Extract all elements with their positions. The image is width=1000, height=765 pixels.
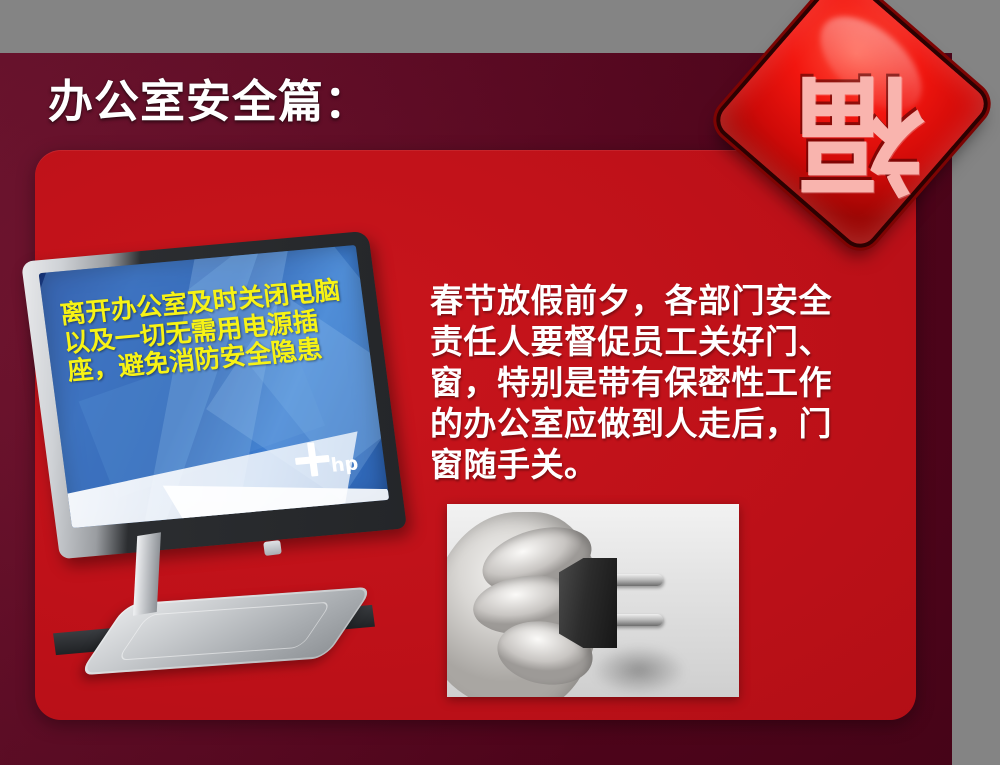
- hp-logo: hp: [293, 439, 359, 478]
- power-button-icon: [263, 540, 282, 556]
- computer-monitor-illustration: 离开办公室及时关闭电脑以及一切无需用电源插座，避免消防安全隐患 hp: [40, 245, 410, 645]
- body-paragraph: 春节放假前夕，各部门安全责任人要督促员工关好门、窗，特别是带有保密性工作的办公室…: [430, 281, 850, 486]
- screenshot-root: 办公室安全篇： 离开办公室及时关闭电脑以及一切无需用电源插座，避免消防安全隐患: [0, 0, 1000, 765]
- fu-character-glyph: 福: [724, 0, 996, 268]
- photo-shadow: [587, 644, 717, 697]
- fu-ornament: 福: [718, 0, 990, 262]
- hp-wordmark: hp: [330, 455, 359, 474]
- monitor-bezel: 离开办公室及时关闭电脑以及一切无需用电源插座，避免消防安全隐患 hp: [21, 231, 407, 559]
- monitor-stand-neck: [133, 532, 161, 615]
- plug-body: [559, 558, 617, 648]
- plus-icon: [293, 441, 331, 478]
- wallpaper-white-streak: [163, 486, 389, 528]
- monitor-screen: 离开办公室及时关闭电脑以及一切无需用电源插座，避免消防安全隐患 hp: [39, 245, 390, 528]
- page-title: 办公室安全篇：: [48, 79, 370, 124]
- plug-photo: [447, 504, 739, 697]
